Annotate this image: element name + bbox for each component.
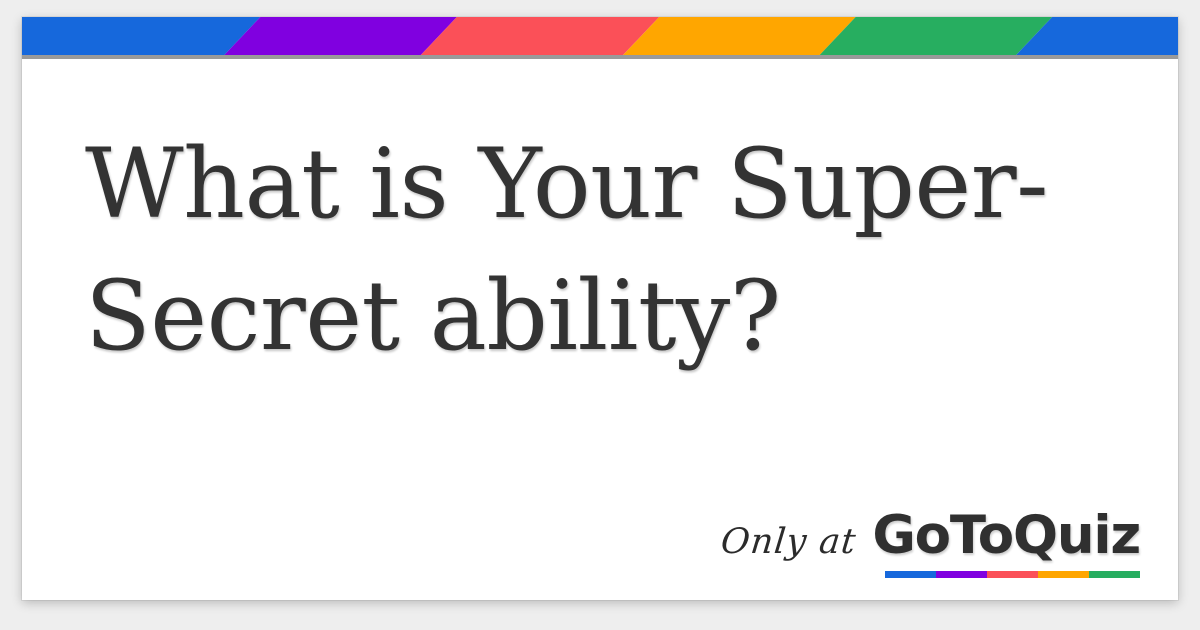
rainbow-segment-purple	[224, 17, 457, 55]
rainbow-bar-svg	[22, 17, 1178, 55]
brand-underline-green	[1089, 571, 1140, 578]
rainbow-segment-red	[421, 17, 659, 55]
quiz-social-card: What is Your Super-Secret ability? Only …	[0, 0, 1200, 630]
title-area: What is Your Super-Secret ability?	[85, 118, 1145, 383]
brand-underline-blue	[885, 571, 936, 578]
brand-underline-bar	[885, 571, 1140, 578]
brand-underline-orange	[1038, 571, 1089, 578]
rainbow-bar	[22, 17, 1178, 55]
rainbow-segment-blue	[22, 17, 260, 55]
brand-underline-red	[987, 571, 1038, 578]
rainbow-segment-orange	[623, 17, 856, 55]
brand-row: Only at GoToQuiz	[721, 505, 1140, 566]
brand-only-at-text: Only at	[719, 522, 858, 562]
brand-wordmark: GoToQuiz	[872, 505, 1140, 566]
brand-underline-purple	[936, 571, 987, 578]
brand-lockup: Only at GoToQuiz	[721, 505, 1140, 578]
rainbow-segment-green	[820, 17, 1053, 55]
page-title: What is Your Super-Secret ability?	[85, 118, 1145, 383]
header-divider-rule	[22, 55, 1178, 59]
card-container: What is Your Super-Secret ability? Only …	[22, 17, 1178, 600]
